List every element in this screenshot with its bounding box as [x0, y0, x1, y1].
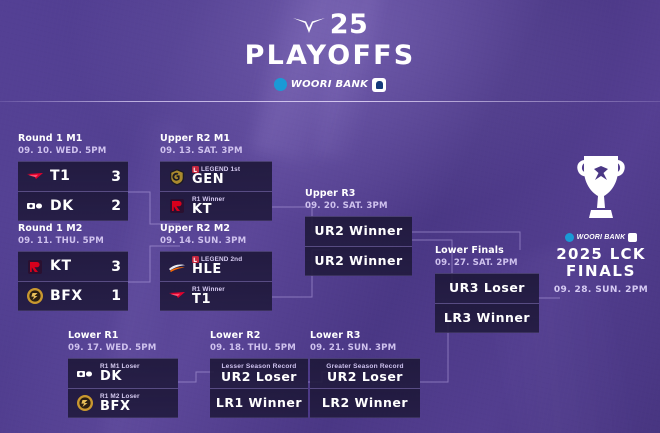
group-date: 09. 17. WED. 5PM [68, 343, 178, 354]
table-row[interactable]: R1 M2 Loser BFX [68, 388, 178, 418]
group-date: 09. 14. SUN. 3PM [160, 236, 272, 247]
match-card[interactable]: R1 M1 Loser DK R1 M2 Loser BFX [68, 358, 178, 418]
match-card[interactable]: LEGEND 2nd HLE R1 Winner T1 [160, 251, 272, 311]
bfx-logo-icon [75, 393, 95, 413]
page-title: PLAYOFFS [245, 42, 416, 69]
team-name: BFX [50, 289, 103, 304]
group-round1-m2: Round 1 M2 09. 11. THU. 5PM KT 3 BFX 1 [18, 223, 128, 311]
team-name-block: DK [50, 199, 103, 214]
slot-block: LR2 Winner [322, 396, 408, 410]
table-row[interactable]: UR3 Loser [435, 273, 539, 303]
kt-logo-icon [25, 257, 45, 277]
team-name: BFX [100, 400, 171, 414]
table-row[interactable]: Greater Season Record UR2 Loser [310, 358, 420, 388]
group-upper-r3: Upper R3 09. 20. SAT. 3PM UR2 Winner UR2… [305, 188, 412, 276]
team-name-block: LEGEND 1st GEN [192, 166, 265, 187]
woori-badge-icon [628, 233, 637, 242]
slot-label: LR2 Winner [322, 396, 408, 410]
slot-block: Lesser Season Record UR2 Loser [221, 363, 297, 385]
match-score: 3 [103, 169, 121, 185]
table-row[interactable]: Lesser Season Record UR2 Loser [210, 358, 308, 388]
gen-logo-icon [167, 167, 187, 187]
slot-label: UR2 Winner [314, 254, 402, 268]
group-title: Round 1 M1 [18, 133, 128, 145]
group-upper-r2-m1: Upper R2 M1 09. 13. SAT. 3PM LEGEND 1st … [160, 133, 272, 221]
group-title: Lower R2 [210, 330, 308, 342]
sponsor-name: WOORI BANK [577, 234, 626, 241]
team-name-block: R1 M2 Loser BFX [100, 393, 171, 414]
match-card[interactable]: UR3 Loser LR3 Winner [435, 273, 539, 333]
title-row: 25 [292, 10, 369, 40]
slot-label: LR3 Winner [444, 311, 530, 325]
group-date: 09. 20. SAT. 3PM [305, 201, 412, 212]
slot-block: LR1 Winner [216, 396, 302, 410]
group-date: 09. 10. WED. 5PM [18, 146, 128, 157]
bfx-logo-icon [25, 286, 45, 306]
dk-logo-icon [25, 196, 45, 216]
finals-title-line2: FINALS [566, 263, 636, 280]
team-name-block: KT [50, 259, 103, 274]
team-name: HLE [192, 263, 265, 277]
kt-logo-icon [167, 196, 187, 216]
match-card[interactable]: LEGEND 1st GEN R1 Winner KT [160, 161, 272, 221]
table-row[interactable]: T1 3 [18, 161, 128, 191]
match-card[interactable]: T1 3 DK 2 [18, 161, 128, 221]
group-title: Upper R3 [305, 188, 412, 200]
group-date: 09. 18. THU. 5PM [210, 343, 308, 354]
team-name-block: T1 [50, 169, 103, 184]
group-lower-r1: Lower R1 09. 17. WED. 5PM R1 M1 Loser DK [68, 330, 178, 418]
table-row[interactable]: LR1 Winner [210, 388, 308, 418]
group-upper-r2-m2: Upper R2 M2 09. 14. SUN. 3PM LEGEND 2nd … [160, 223, 272, 311]
table-row[interactable]: UR2 Winner [305, 216, 412, 246]
slot-label: UR2 Loser [221, 370, 297, 384]
table-row[interactable]: LEGEND 2nd HLE [160, 251, 272, 281]
team-name: T1 [50, 169, 103, 184]
woori-bank-icon [565, 233, 574, 242]
table-row[interactable]: LEGEND 1st GEN [160, 161, 272, 191]
page-header: 25 PLAYOFFS WOORI BANK [0, 0, 660, 101]
group-date: 09. 27. SAT. 2PM [435, 258, 539, 269]
group-title: Lower R3 [310, 330, 420, 342]
group-title: Upper R2 M2 [160, 223, 272, 235]
match-score: 2 [103, 198, 121, 214]
group-title: Upper R2 M1 [160, 133, 272, 145]
match-card[interactable]: UR2 Winner UR2 Winner [305, 216, 412, 276]
match-card[interactable]: Lesser Season Record UR2 Loser LR1 Winne… [210, 358, 308, 418]
match-score: 3 [103, 259, 121, 275]
table-row[interactable]: R1 Winner T1 [160, 281, 272, 311]
woori-badge-icon [372, 78, 386, 92]
slot-block: UR2 Winner [314, 224, 402, 238]
team-name-block: LEGEND 2nd HLE [192, 256, 265, 277]
finals-sponsor: WOORI BANK [565, 233, 638, 242]
finals-title-line1: 2025 LCK [556, 245, 646, 263]
table-row[interactable]: R1 M1 Loser DK [68, 358, 178, 388]
team-name: DK [50, 199, 103, 214]
team-name-block: R1 Winner T1 [192, 286, 265, 307]
table-row[interactable]: BFX 1 [18, 281, 128, 311]
table-row[interactable]: DK 2 [18, 191, 128, 221]
team-name: KT [192, 203, 265, 217]
sponsor-name: WOORI BANK [291, 79, 368, 90]
finals-date: 09. 28. SUN. 2PM [554, 285, 648, 295]
slot-block: UR2 Winner [314, 254, 402, 268]
slot-block: UR3 Loser [449, 281, 525, 295]
team-name: KT [50, 259, 103, 274]
group-lower-finals: Lower Finals 09. 27. SAT. 2PM UR3 Loser … [435, 245, 539, 333]
grand-finals-panel: WOORI BANK 2025 LCK FINALS 09. 28. SUN. … [548, 152, 654, 295]
group-date: 09. 13. SAT. 3PM [160, 146, 272, 157]
t1-logo-icon [167, 286, 187, 306]
group-title: Lower R1 [68, 330, 178, 342]
team-name: GEN [192, 173, 265, 187]
group-lower-r3: Lower R3 09. 21. SUN. 3PM Greater Season… [310, 330, 420, 418]
team-name: DK [100, 370, 171, 384]
group-lower-r2: Lower R2 09. 18. THU. 5PM Lesser Season … [210, 330, 308, 418]
match-card[interactable]: KT 3 BFX 1 [18, 251, 128, 311]
table-row[interactable]: KT 3 [18, 251, 128, 281]
header-divider [0, 101, 660, 102]
table-row[interactable]: R1 Winner KT [160, 191, 272, 221]
hle-logo-icon [167, 257, 187, 277]
t1-logo-icon [25, 167, 45, 187]
header-sponsor: WOORI BANK [274, 78, 386, 92]
slot-block: Greater Season Record UR2 Loser [326, 363, 404, 385]
group-round1-m1: Round 1 M1 09. 10. WED. 5PM T1 3 DK 2 [18, 133, 128, 221]
year-label: 25 [330, 11, 369, 38]
slot-label: UR2 Winner [314, 224, 402, 238]
slot-label: UR2 Loser [327, 370, 403, 384]
group-date: 09. 11. THU. 5PM [18, 236, 128, 247]
table-row[interactable]: UR2 Winner [305, 246, 412, 276]
trophy-icon [574, 152, 628, 224]
group-title: Round 1 M2 [18, 223, 128, 235]
team-name-block: R1 Winner KT [192, 196, 265, 217]
match-card[interactable]: Greater Season Record UR2 Loser LR2 Winn… [310, 358, 420, 418]
match-score: 1 [103, 288, 121, 304]
woori-bank-icon [274, 78, 287, 91]
team-name-block: R1 M1 Loser DK [100, 363, 171, 384]
table-row[interactable]: LR2 Winner [310, 388, 420, 418]
team-name: T1 [192, 293, 265, 307]
slot-block: LR3 Winner [444, 311, 530, 325]
slot-label: LR1 Winner [216, 396, 302, 410]
playoffs-bracket-page: 25 PLAYOFFS WOORI BANK [0, 0, 660, 433]
group-date: 09. 21. SUN. 3PM [310, 343, 420, 354]
dk-logo-icon [75, 364, 95, 384]
slot-label: UR3 Loser [449, 281, 525, 295]
table-row[interactable]: LR3 Winner [435, 303, 539, 333]
lck-bird-icon [292, 14, 326, 36]
team-name-block: BFX [50, 289, 103, 304]
group-title: Lower Finals [435, 245, 539, 257]
